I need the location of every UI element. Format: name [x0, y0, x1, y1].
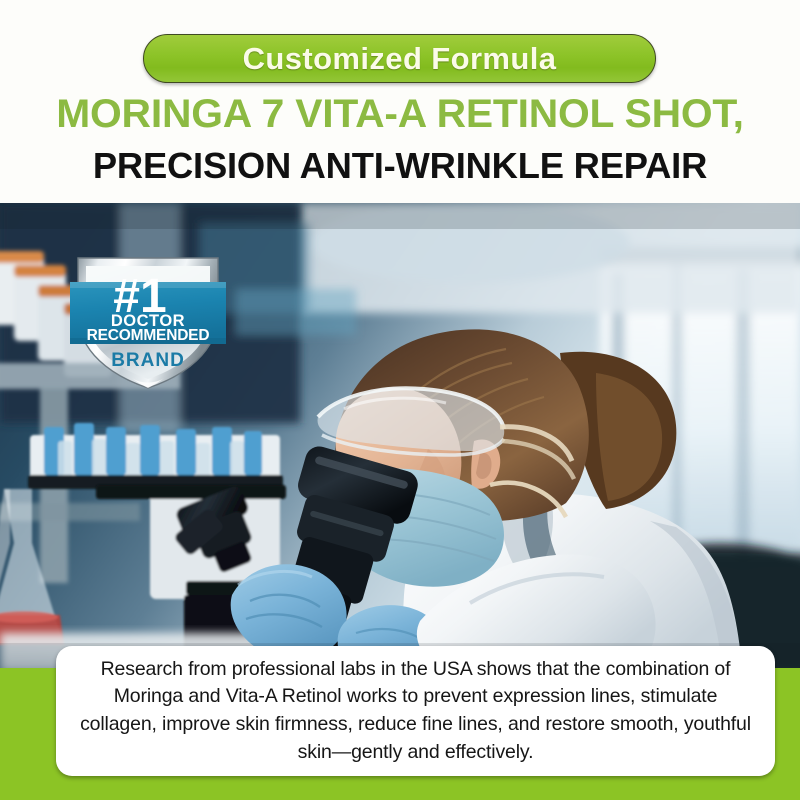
- claim-box: Research from professional labs in the U…: [56, 646, 775, 776]
- headline-secondary: PRECISION ANTI-WRINKLE REPAIR: [0, 148, 800, 184]
- eyebrow-label: Customized Formula: [243, 43, 557, 74]
- badge-line-brand: BRAND: [111, 350, 185, 371]
- claim-text: Research from professional labs in the U…: [74, 656, 757, 767]
- doctor-recommended-badge: #1 DOCTOR RECOMMENDED BRAND: [62, 240, 234, 392]
- headline-primary: MORINGA 7 VITA-A RETINOL SHOT,: [0, 94, 800, 134]
- badge-line-recommended: RECOMMENDED: [87, 327, 210, 344]
- header-block: Customized Formula MORINGA 7 VITA-A RETI…: [0, 0, 800, 203]
- product-marketing-banner: Customized Formula MORINGA 7 VITA-A RETI…: [0, 0, 800, 800]
- shield-icon: #1 DOCTOR RECOMMENDED BRAND: [62, 240, 234, 392]
- eyebrow-pill-badge: Customized Formula: [143, 34, 656, 83]
